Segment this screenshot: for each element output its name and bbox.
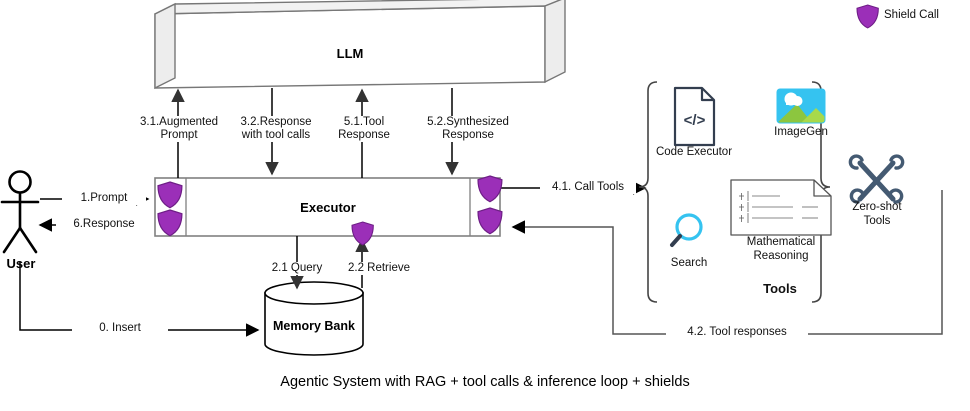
user-node bbox=[2, 172, 38, 253]
svg-text:</>: </> bbox=[684, 112, 706, 129]
formula-document-icon bbox=[731, 180, 831, 235]
edge-label-augmented-prompt: 3.1.Augmented Prompt bbox=[138, 116, 220, 142]
crossed-wrenches-icon bbox=[850, 156, 902, 202]
tools-group-label: Tools bbox=[720, 282, 840, 296]
edge-label-response: 6.Response bbox=[56, 218, 152, 231]
llm-label: LLM bbox=[155, 46, 545, 61]
shield-icon bbox=[352, 222, 373, 245]
edge-label-call-tools: 4.1. Call Tools bbox=[540, 181, 636, 194]
user-label: User bbox=[0, 256, 42, 271]
tool-label-search: Search bbox=[659, 257, 719, 271]
edge-label-query: 2.1 Query bbox=[258, 262, 336, 275]
shield-icon bbox=[857, 5, 878, 28]
edge-label-tool-response: 5.1.Tool Response bbox=[330, 116, 398, 142]
edge-label-response-tool-calls: 3.2.Response with tool calls bbox=[232, 116, 320, 142]
llm-node bbox=[155, 0, 565, 88]
code-document-icon: </> bbox=[675, 88, 714, 145]
tool-label-zero-shot-tools: Zero-shot Tools bbox=[840, 201, 914, 228]
tool-label-math-reasoning: Mathematical Reasoning bbox=[734, 236, 828, 263]
memory-bank-label: Memory Bank bbox=[265, 319, 363, 333]
tool-label-code-executor: Code Executor bbox=[648, 146, 740, 160]
diagram-vector-layer: </> bbox=[0, 0, 970, 411]
edge-label-tool-responses: 4.2. Tool responses bbox=[666, 326, 808, 339]
edge-label-prompt: 1.Prompt bbox=[62, 192, 146, 205]
edge-label-synthesized-response: 5.2.Synthesized Response bbox=[420, 116, 516, 142]
edge-label-insert: 0. Insert bbox=[72, 322, 168, 335]
diagram-caption: Agentic System with RAG + tool calls & i… bbox=[0, 374, 970, 390]
executor-label: Executor bbox=[186, 200, 470, 215]
legend-label: Shield Call bbox=[884, 9, 960, 22]
magnifier-icon bbox=[672, 215, 701, 245]
image-picture-icon bbox=[777, 89, 831, 123]
edge-label-retrieve: 2.2 Retrieve bbox=[336, 262, 422, 275]
diagram-canvas: </> bbox=[0, 0, 970, 411]
tool-label-image-gen: ImageGen bbox=[765, 126, 837, 140]
